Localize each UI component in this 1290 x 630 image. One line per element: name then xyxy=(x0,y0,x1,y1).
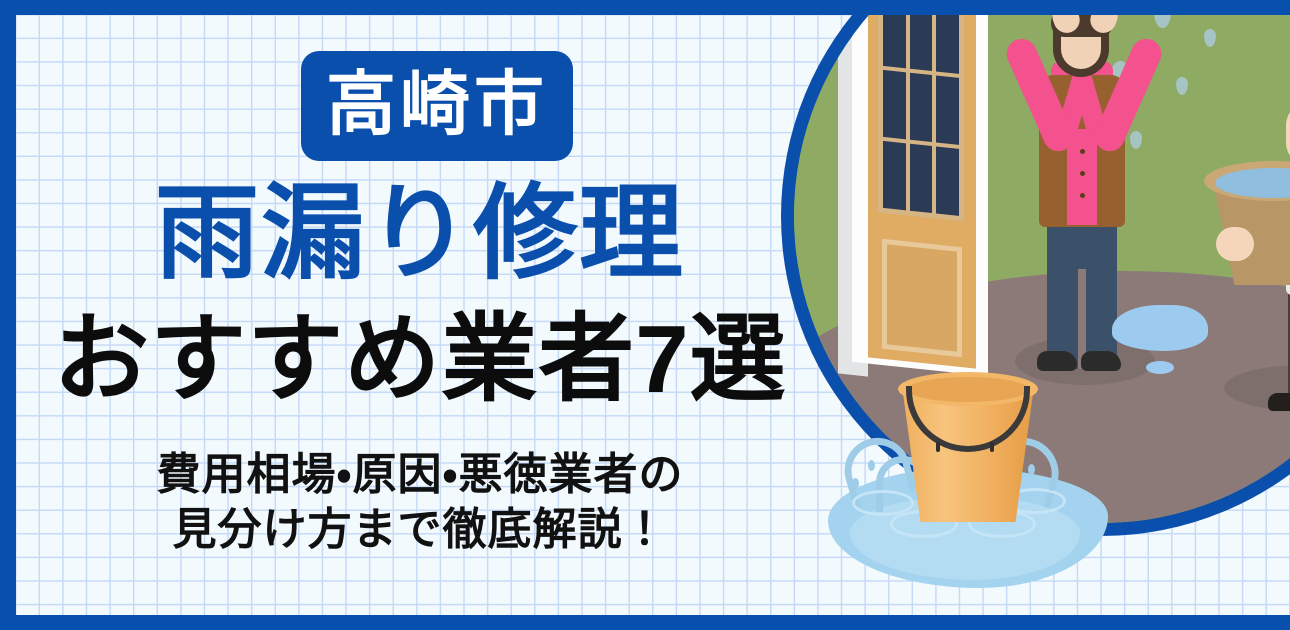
hand xyxy=(1216,227,1254,261)
floor-puddle xyxy=(1112,305,1208,351)
region-badge-label: 高崎市 xyxy=(326,69,548,139)
glass-pane xyxy=(883,141,906,210)
man-carrying-bucket xyxy=(1194,97,1290,427)
wooden-door xyxy=(868,0,976,369)
shoe-left xyxy=(1268,393,1290,411)
lead-text: 費用相場・原因・悪徳業者の 見分け方まで徹底解説！ xyxy=(0,447,840,558)
lead-line-1: 費用相場・原因・悪徳業者の xyxy=(0,447,840,502)
water-spray xyxy=(1048,480,1055,491)
glass-pane xyxy=(883,70,906,139)
door-lower-panel xyxy=(882,239,962,357)
water-spray xyxy=(852,478,859,489)
vest-button xyxy=(1080,193,1085,198)
bucket-hole xyxy=(990,442,994,452)
floor-puddle-small xyxy=(1146,361,1174,374)
vest-button xyxy=(1080,149,1085,154)
frame-left xyxy=(0,0,16,630)
glass-pane xyxy=(936,147,959,216)
text-content: 高崎市 雨漏り修理 おすすめ業者7選 費用相場・原因・悪徳業者の 見分け方まで徹… xyxy=(0,0,840,630)
carried-bucket xyxy=(1204,161,1290,289)
door-glass-panes xyxy=(878,0,964,221)
page-title-secondary: おすすめ業者7選 xyxy=(0,312,840,408)
leaking-bucket-group xyxy=(828,360,1128,590)
frame-bottom xyxy=(0,615,1290,630)
glass-pane xyxy=(910,73,933,142)
glass-pane xyxy=(936,76,959,145)
region-badge: 高崎市 xyxy=(301,51,573,161)
lead-line-2: 見分け方まで徹底解説！ xyxy=(0,502,840,557)
frame-top xyxy=(0,0,1290,15)
vest-button xyxy=(1080,171,1085,176)
bucket-hole xyxy=(936,442,940,452)
page-title-primary: 雨漏り修理 xyxy=(0,182,840,286)
banner-root: 高崎市 雨漏り修理 おすすめ業者7選 費用相場・原因・悪徳業者の 見分け方まで徹… xyxy=(0,0,1290,630)
orange-bucket xyxy=(898,372,1038,522)
glass-pane xyxy=(910,144,933,213)
water-spray xyxy=(868,460,875,471)
